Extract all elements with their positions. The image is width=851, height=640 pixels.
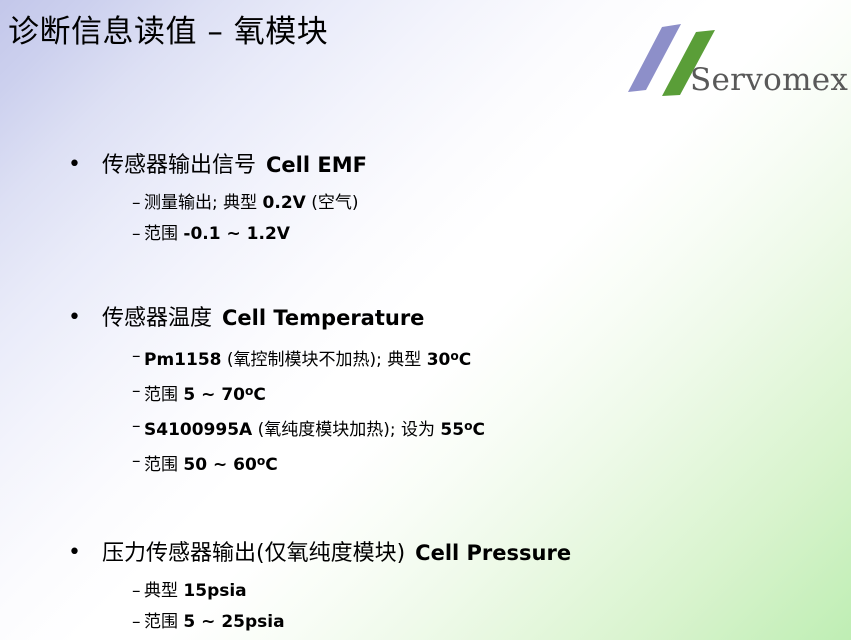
bullet-heading: • 传感器输出信号Cell EMF	[0, 143, 851, 188]
logo-wordmark: Servomex	[690, 63, 848, 97]
sub-bullet-dash-icon: –	[132, 411, 141, 442]
sub-bullet-part-number: Pm1158	[144, 350, 222, 370]
sub-bullet-unit: C	[253, 385, 265, 405]
sub-bullet-post: (空气)	[306, 193, 359, 213]
bullet-section-cell-pressure: • 压力传感器输出(仅氧纯度模块)Cell Pressure – 典型 15ps…	[0, 531, 851, 638]
sub-bullet-dash-icon: –	[132, 188, 141, 219]
sub-bullet-pre: 范围	[144, 385, 183, 405]
sub-bullet-dash-icon: –	[132, 607, 141, 638]
sub-bullet-unit: C	[473, 420, 485, 440]
sub-bullet-value: 5 ~ 25psia	[183, 612, 284, 632]
bullet-heading-cn: 压力传感器输出(仅氧纯度模块)	[102, 541, 405, 566]
sub-bullet-unit: C	[265, 455, 277, 475]
bullet-heading-cn: 传感器输出信号	[102, 153, 256, 178]
sub-bullet-value: 5 ~ 70	[183, 385, 245, 405]
bullet-heading-cn: 传感器温度	[102, 306, 212, 331]
sub-bullet-pre: 测量输出; 典型	[144, 193, 263, 213]
bullet-heading: • 压力传感器输出(仅氧纯度模块)Cell Pressure	[0, 531, 851, 576]
sub-bullet-dash-icon: –	[132, 446, 141, 477]
bullet-heading-en: Cell Temperature	[222, 306, 424, 330]
bullet-heading-en: Cell Pressure	[415, 541, 571, 565]
sub-bullet-pre: 范围	[144, 455, 183, 475]
sub-bullet-value: 55	[440, 420, 464, 440]
sub-bullet-mid: (氧控制模块不加热); 典型	[222, 350, 427, 370]
degree-icon: o	[450, 349, 458, 363]
sub-bullet-pre: 典型	[144, 581, 183, 601]
degree-icon: o	[464, 419, 472, 433]
sub-bullet-pre: 范围	[144, 224, 183, 244]
bullet-heading-en: Cell EMF	[266, 153, 367, 177]
sub-bullet-pre: 范围	[144, 612, 183, 632]
bullet-section-cell-temperature: • 传感器温度Cell Temperature – Pm1158 (氧控制模块不…	[0, 296, 851, 481]
bullet-dot-icon: •	[68, 296, 82, 340]
sub-bullet-value: 15psia	[183, 581, 246, 601]
servomex-logo: Servomex	[624, 22, 846, 108]
sub-bullet-value: 30	[427, 350, 451, 370]
sub-bullet-mid: (氧纯度模块加热); 设为	[252, 420, 440, 440]
degree-icon: o	[257, 454, 265, 468]
sub-bullet-item: – 范围 5 ~ 70oC	[0, 376, 851, 411]
slide-body: • 传感器输出信号Cell EMF – 测量输出; 典型 0.2V (空气) –…	[0, 143, 851, 638]
sub-bullet-dash-icon: –	[132, 576, 141, 607]
bullet-dot-icon: •	[68, 143, 82, 187]
sub-bullet-value: -0.1 ~ 1.2V	[183, 224, 290, 244]
sub-bullet-dash-icon: –	[132, 376, 141, 407]
presentation-slide: 诊断信息读值 – 氧模块 Servomex • 传感器输出信号Cell EMF …	[0, 0, 851, 640]
sub-bullet-item: – S4100995A (氧纯度模块加热); 设为 55oC	[0, 411, 851, 446]
sub-bullet-item: – 范围 5 ~ 25psia	[0, 607, 851, 638]
sub-bullet-part-number: S4100995A	[144, 420, 252, 440]
sub-bullet-dash-icon: –	[132, 219, 141, 250]
sub-bullet-dash-icon: –	[132, 341, 141, 372]
bullet-dot-icon: •	[68, 531, 82, 575]
sub-bullet-item: – Pm1158 (氧控制模块不加热); 典型 30oC	[0, 341, 851, 376]
sub-bullet-item: – 范围 50 ~ 60oC	[0, 446, 851, 481]
bullet-heading: • 传感器温度Cell Temperature	[0, 296, 851, 341]
sub-bullet-unit: C	[459, 350, 471, 370]
sub-bullet-item: – 范围 -0.1 ~ 1.2V	[0, 219, 851, 250]
slide-title: 诊断信息读值 – 氧模块	[8, 12, 608, 52]
sub-bullet-value: 50 ~ 60	[183, 455, 256, 475]
sub-bullet-value: 0.2V	[263, 193, 306, 213]
bullet-section-cell-emf: • 传感器输出信号Cell EMF – 测量输出; 典型 0.2V (空气) –…	[0, 143, 851, 250]
sub-bullet-item: – 测量输出; 典型 0.2V (空气)	[0, 188, 851, 219]
sub-bullet-item: – 典型 15psia	[0, 576, 851, 607]
